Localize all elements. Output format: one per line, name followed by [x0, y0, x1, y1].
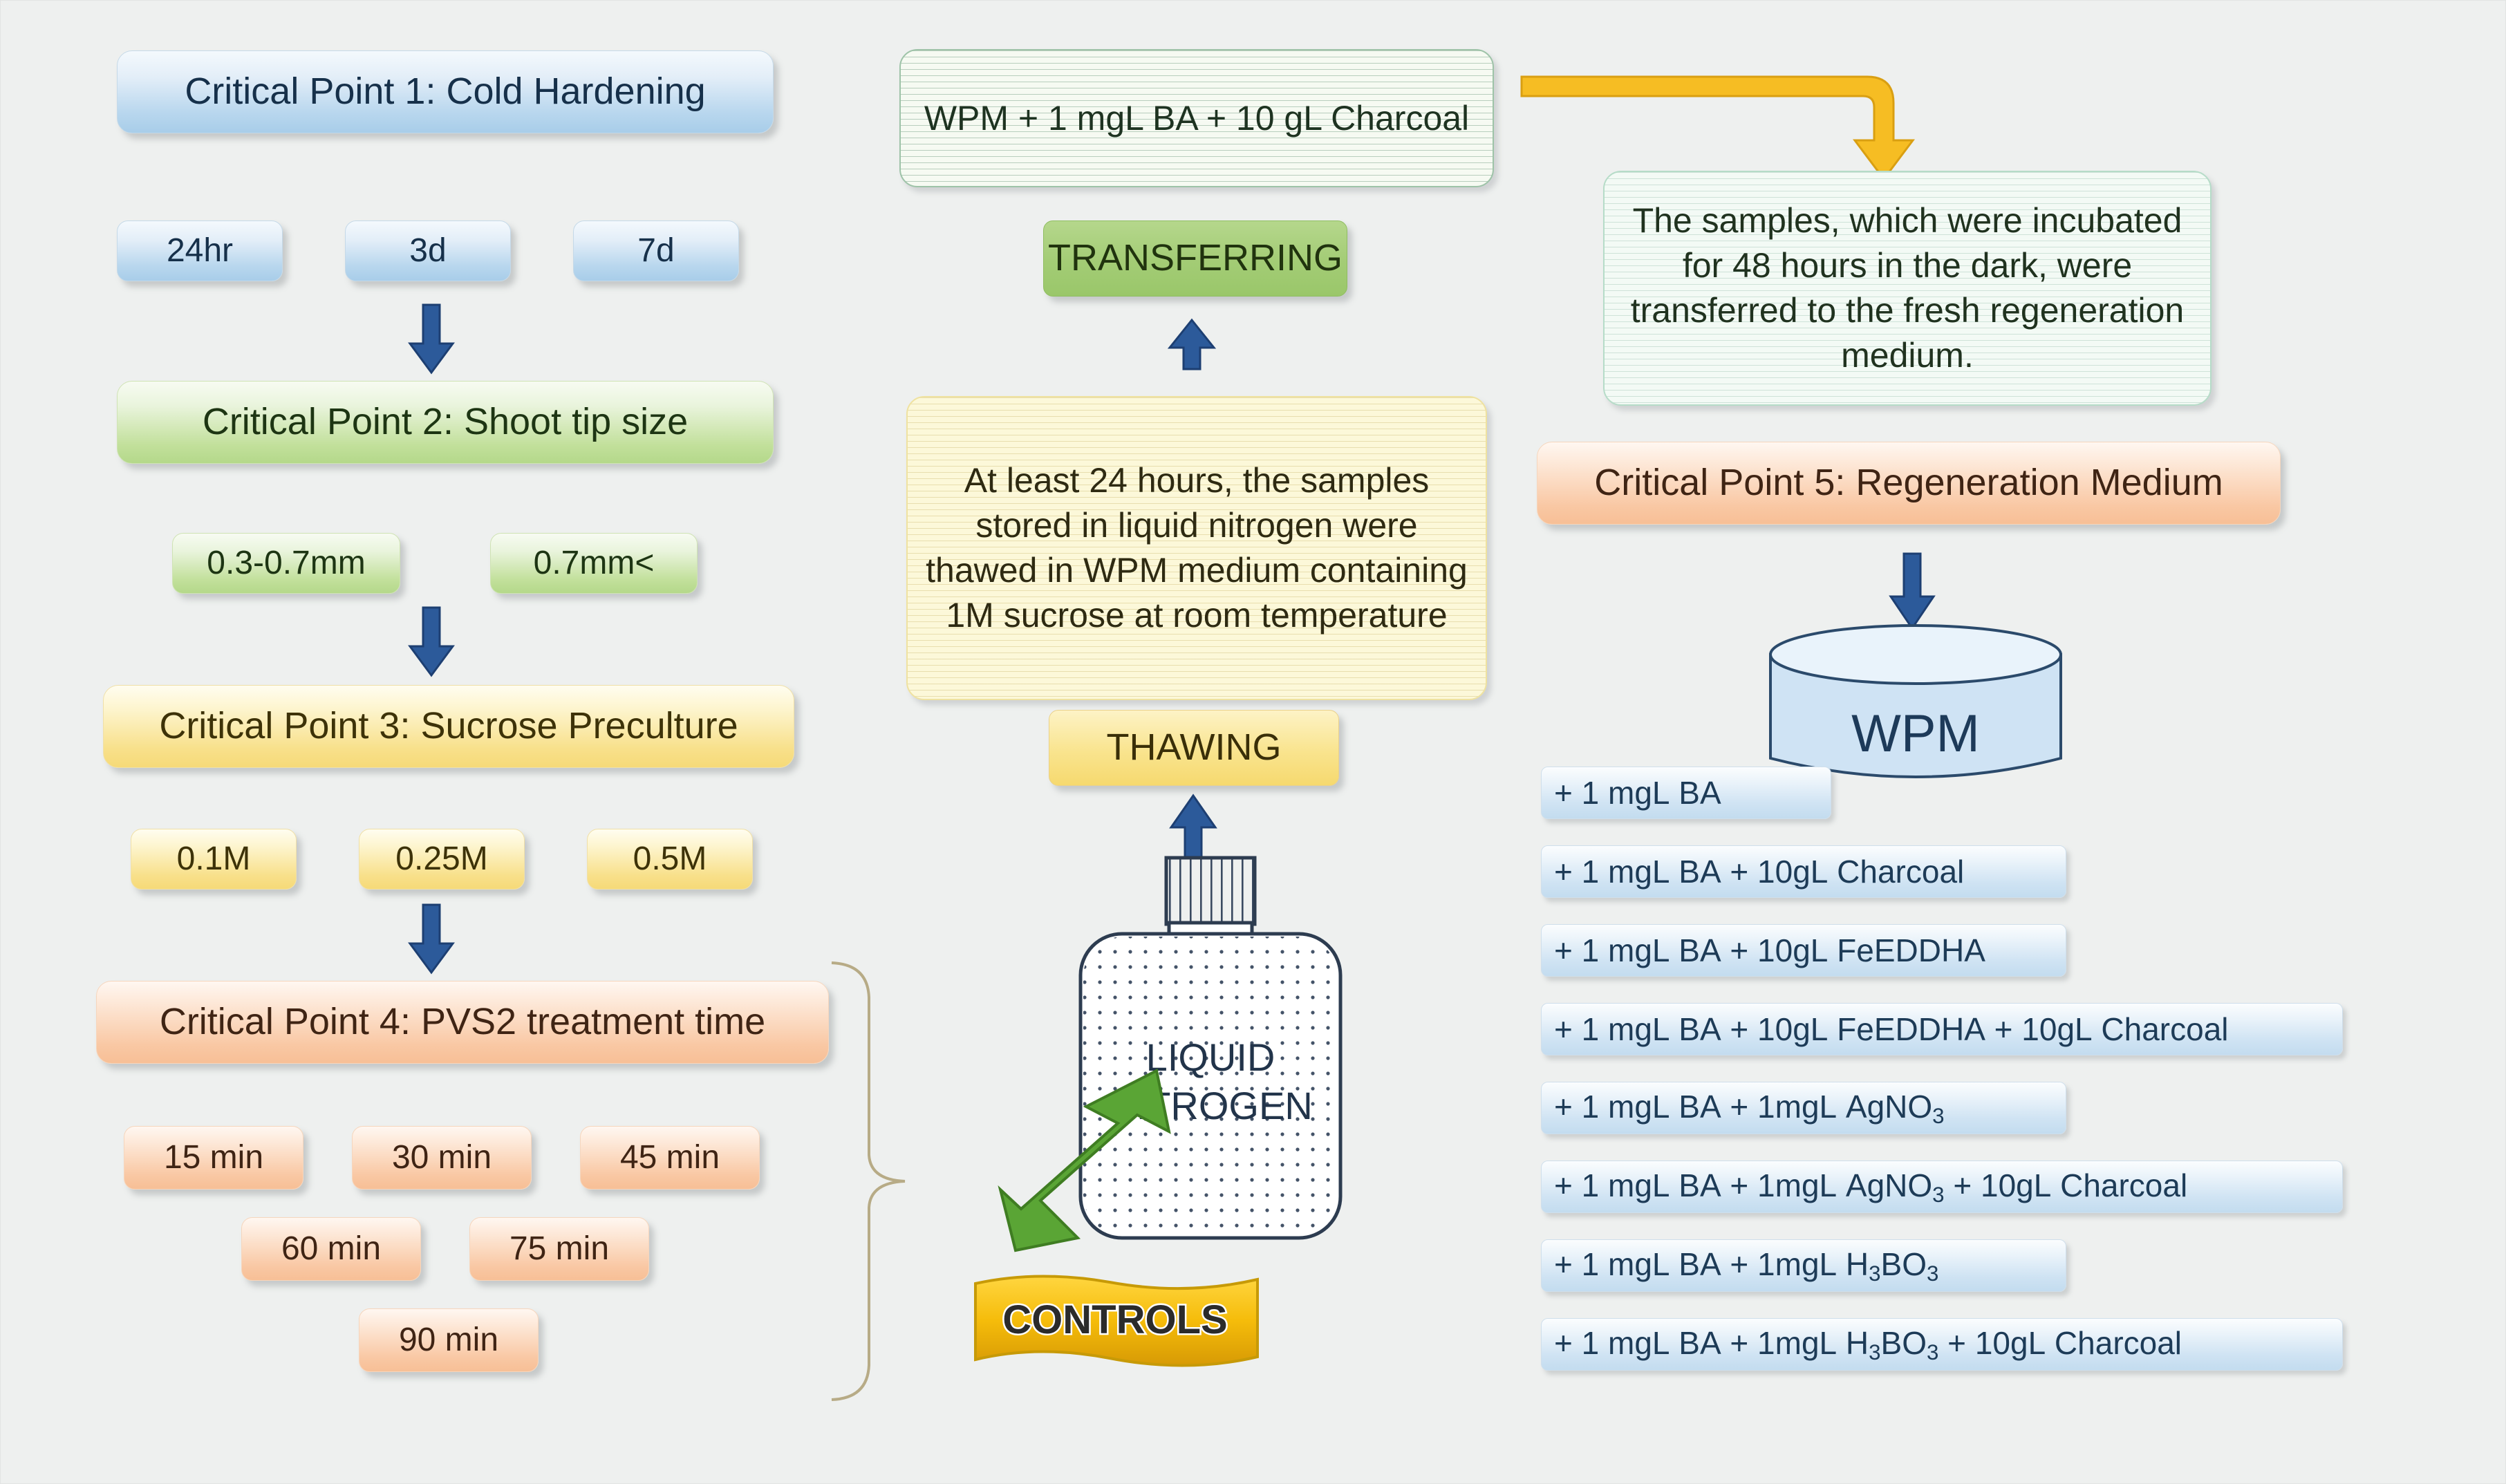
media-item-5[interactable]: + 1 mgL BA + 1mgL AgNO3 — [1541, 1082, 2066, 1134]
media-item-3-label: + 1 mgL BA + 10gL FeEDDHA — [1554, 932, 1985, 969]
media-item-8[interactable]: + 1 mgL BA + 1mgL H3BO3 + 10gL Charcoal — [1541, 1318, 2343, 1371]
critical-point-3-box[interactable]: Critical Point 3: Sucrose Preculture — [103, 685, 794, 768]
media-item-7[interactable]: + 1 mgL BA + 1mgL H3BO3 — [1541, 1239, 2066, 1292]
split-arrow-to-controls-and-nitrogen — [949, 1065, 1184, 1300]
cp4-option-30min[interactable]: 30 min — [352, 1126, 532, 1190]
media-item-2-label: + 1 mgL BA + 10gL Charcoal — [1554, 853, 1964, 890]
cp1-option-7d[interactable]: 7d — [573, 220, 739, 281]
arrow-thawing-to-transferring — [1168, 319, 1216, 370]
cp4-option-45min[interactable]: 45 min — [580, 1126, 760, 1190]
controls-banner: CONTROLS — [971, 1266, 1262, 1376]
media-item-1-label: + 1 mgL BA — [1554, 774, 1721, 811]
media-item-3[interactable]: + 1 mgL BA + 10gL FeEDDHA — [1541, 924, 2066, 977]
thawing-note: At least 24 hours, the samples stored in… — [906, 396, 1487, 700]
cp4-option-75min[interactable]: 75 min — [469, 1217, 649, 1281]
media-item-7-label: + 1 mgL BA + 1mgL H3BO3 — [1554, 1246, 1938, 1286]
transfer-medium-note: WPM + 1 mgL BA + 10 gL Charcoal — [899, 49, 1494, 187]
cp1-option-24hr[interactable]: 24hr — [117, 220, 283, 281]
controls-label: CONTROLS — [1002, 1297, 1227, 1342]
arrow-cp1-to-cp2 — [407, 305, 456, 374]
cp1-option-3d[interactable]: 3d — [345, 220, 511, 281]
cp4-option-90min[interactable]: 90 min — [359, 1308, 539, 1372]
arrow-bottle-to-thawing — [1169, 794, 1217, 860]
thawing-label: THAWING — [1049, 710, 1339, 786]
cp3-option-01m[interactable]: 0.1M — [131, 829, 297, 890]
arrow-cp3-to-cp4 — [407, 905, 456, 974]
arrow-cp5-to-wpm — [1888, 554, 1936, 630]
critical-point-2-box[interactable]: Critical Point 2: Shoot tip size — [117, 381, 774, 464]
incubation-note: The samples, which were incubated for 48… — [1603, 171, 2212, 406]
media-item-6[interactable]: + 1 mgL BA + 1mgL AgNO3 + 10gL Charcoal — [1541, 1161, 2343, 1213]
cp2-option-03-07mm[interactable]: 0.3-0.7mm — [172, 533, 400, 594]
cylinder-label: WPM — [1851, 704, 1980, 763]
media-item-5-label: + 1 mgL BA + 1mgL AgNO3 — [1554, 1088, 1945, 1129]
cp4-option-60min[interactable]: 60 min — [241, 1217, 421, 1281]
transferring-label: TRANSFERRING — [1043, 220, 1347, 297]
media-item-4[interactable]: + 1 mgL BA + 10gL FeEDDHA + 10gL Charcoa… — [1541, 1003, 2343, 1055]
media-item-6-label: + 1 mgL BA + 1mgL AgNO3 + 10gL Charcoal — [1554, 1167, 2187, 1208]
wpm-cylinder: WPM — [1757, 623, 2075, 789]
critical-point-5-box[interactable]: Critical Point 5: Regeneration Medium — [1537, 442, 2281, 525]
cp4-option-15min[interactable]: 15 min — [124, 1126, 303, 1190]
media-item-2[interactable]: + 1 mgL BA + 10gL Charcoal — [1541, 845, 2066, 898]
critical-point-1-box[interactable]: Critical Point 1: Cold Hardening — [117, 50, 774, 133]
cp3-option-05m[interactable]: 0.5M — [587, 829, 753, 890]
group-brace — [823, 960, 913, 1402]
cp2-option-07mm-plus[interactable]: 0.7mm< — [490, 533, 698, 594]
media-item-4-label: + 1 mgL BA + 10gL FeEDDHA + 10gL Charcoa… — [1554, 1011, 2229, 1048]
yellow-elbow-arrow — [1520, 67, 1921, 185]
arrow-cp2-to-cp3 — [407, 608, 456, 677]
diagram-canvas: Critical Point 1: Cold Hardening 24hr 3d… — [0, 0, 2506, 1484]
media-item-8-label: + 1 mgL BA + 1mgL H3BO3 + 10gL Charcoal — [1554, 1324, 2182, 1365]
media-item-1[interactable]: + 1 mgL BA — [1541, 767, 1831, 819]
cp3-option-025m[interactable]: 0.25M — [359, 829, 525, 890]
critical-point-4-box[interactable]: Critical Point 4: PVS2 treatment time — [96, 981, 829, 1064]
